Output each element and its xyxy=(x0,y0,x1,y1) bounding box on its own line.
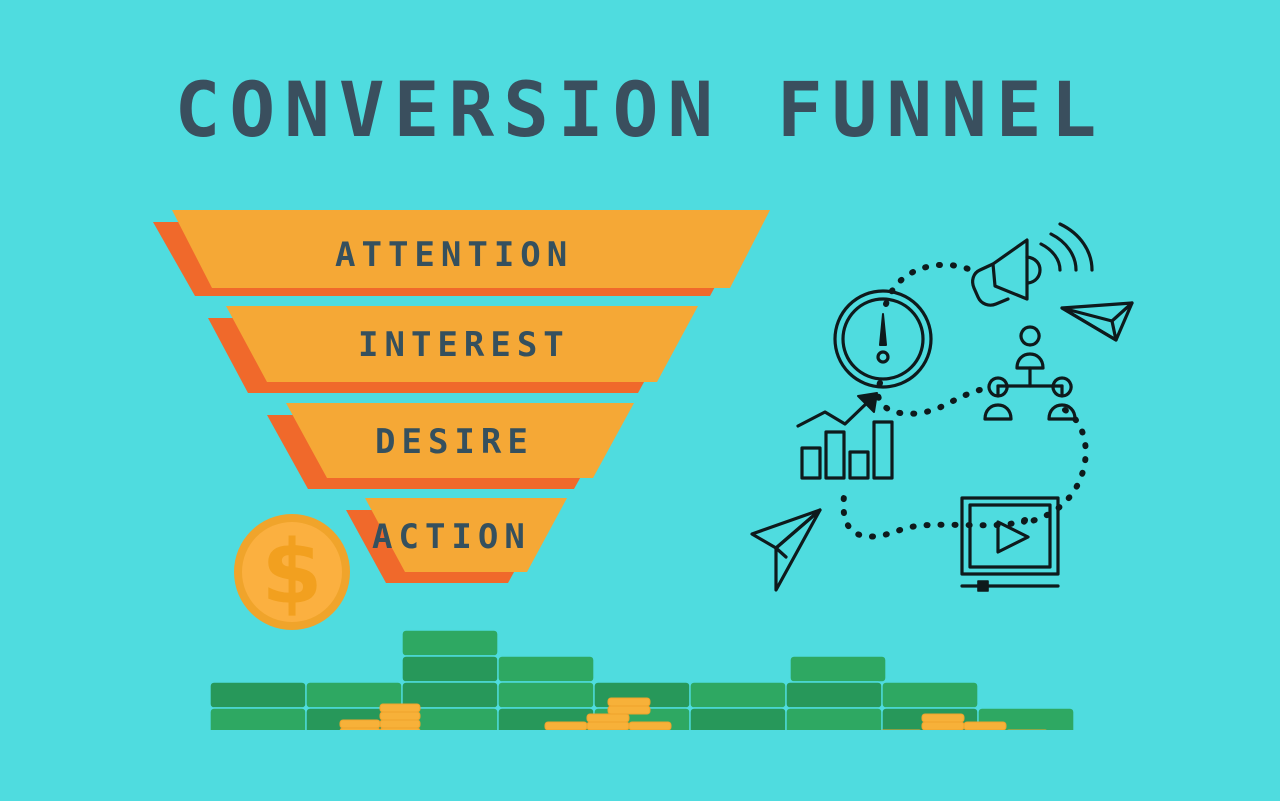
dotted-path-icon xyxy=(843,265,1085,537)
page-title: CONVERSION FUNNEL xyxy=(0,72,1280,148)
money-graphic xyxy=(190,600,1090,730)
bill-block xyxy=(210,708,306,730)
bill-block xyxy=(690,708,786,730)
bill-block xyxy=(882,682,978,708)
bill-block xyxy=(402,630,498,656)
paper-plane-icon-2 xyxy=(752,510,820,590)
funnel-label-interest: INTEREST xyxy=(358,328,570,362)
icon-cluster-graphic xyxy=(740,200,1140,600)
bill-block xyxy=(786,708,882,730)
bill-block xyxy=(498,682,594,708)
bill-block xyxy=(790,656,886,682)
funnel-label-attention: ATTENTION xyxy=(335,238,573,272)
bill-block xyxy=(498,656,594,682)
bill-block xyxy=(210,682,306,708)
bill-block xyxy=(402,656,498,682)
marketing-icon-cluster xyxy=(740,200,1140,600)
money-stacks xyxy=(190,600,1090,730)
poster-canvas: CONVERSION FUNNEL xyxy=(0,0,1280,801)
bar-chart-growth-icon xyxy=(798,393,892,478)
megaphone-icon xyxy=(973,224,1092,305)
funnel-label-action: ACTION xyxy=(372,520,531,554)
alert-circle-icon xyxy=(835,291,931,387)
bill-block xyxy=(690,682,786,708)
funnel-label-desire: DESIRE xyxy=(375,425,534,459)
bill-block xyxy=(786,682,882,708)
people-network-icon xyxy=(985,327,1075,419)
video-player-icon xyxy=(962,498,1058,591)
paper-plane-icon xyxy=(1062,303,1132,340)
